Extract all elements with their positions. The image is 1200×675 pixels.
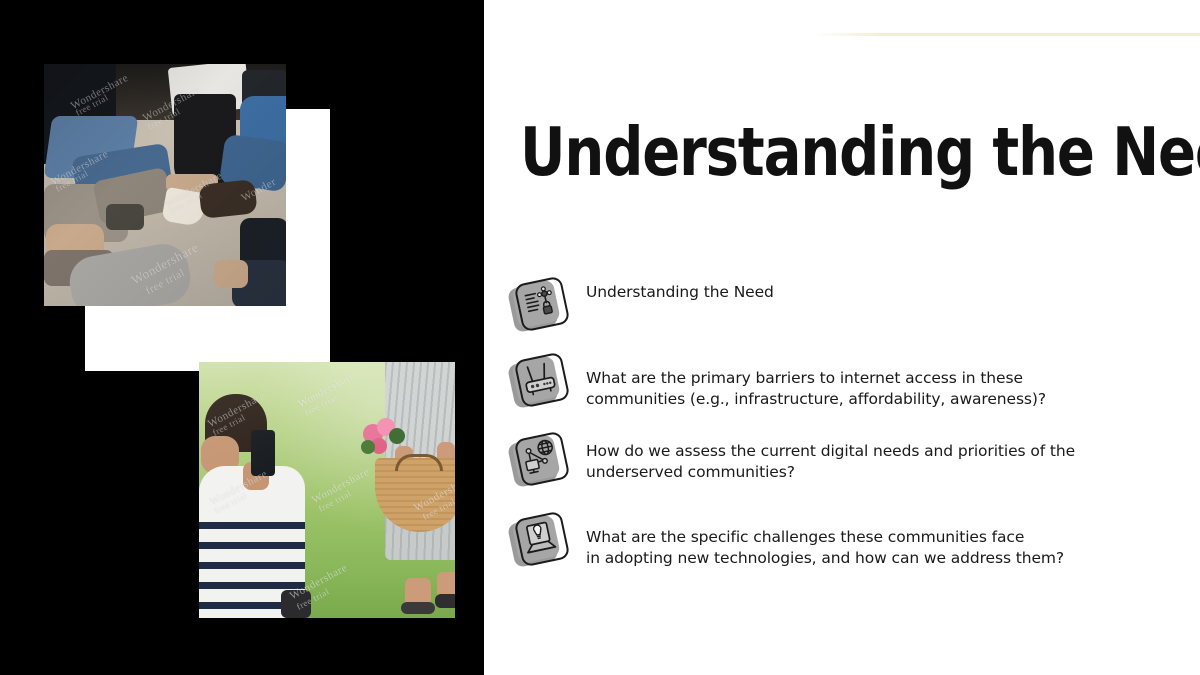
list-item-label: What are the primary barriers to interne…: [586, 352, 1046, 410]
couple-outdoors-photo: Wondershare free trial Wondershare free …: [199, 362, 455, 618]
accent-line: [812, 33, 1200, 36]
laptop-lightbulb-icon: [508, 511, 572, 575]
list-item[interactable]: What are the specific challenges these c…: [508, 511, 1200, 575]
icon-glyph-document-settings-lock: [515, 278, 562, 325]
icon-glyph-wifi-router: [515, 354, 562, 401]
group-discussion-photo-group: Wondershare free trial Wondershare free …: [44, 64, 289, 309]
list-item[interactable]: How do we assess the current digital nee…: [508, 431, 1200, 495]
icon-glyph-network-globe: [515, 433, 562, 480]
list-item[interactable]: What are the primary barriers to interne…: [508, 352, 1200, 416]
wifi-router-icon: [508, 352, 572, 416]
network-globe-icon: [508, 431, 572, 495]
slide: Wondershare free trial Wondershare free …: [0, 0, 1200, 675]
list-item[interactable]: Understanding the Need: [508, 276, 1200, 340]
couple-outdoors-image: Wondershare free trial Wondershare free …: [199, 362, 455, 618]
list-item-label: How do we assess the current digital nee…: [586, 431, 1075, 483]
list-item-label: Understanding the Need: [586, 276, 774, 303]
list-item-label: What are the specific challenges these c…: [586, 511, 1064, 569]
document-settings-lock-icon: [508, 276, 572, 340]
icon-glyph-laptop-lightbulb: [515, 513, 562, 560]
page-title: Understanding the Need: [520, 110, 1200, 194]
group-discussion-photo: Wondershare free trial Wondershare free …: [44, 64, 286, 306]
group-discussion-image: Wondershare free trial Wondershare free …: [44, 64, 286, 306]
couple-outdoors-photo-group: Wondershare free trial Wondershare free …: [199, 362, 455, 618]
